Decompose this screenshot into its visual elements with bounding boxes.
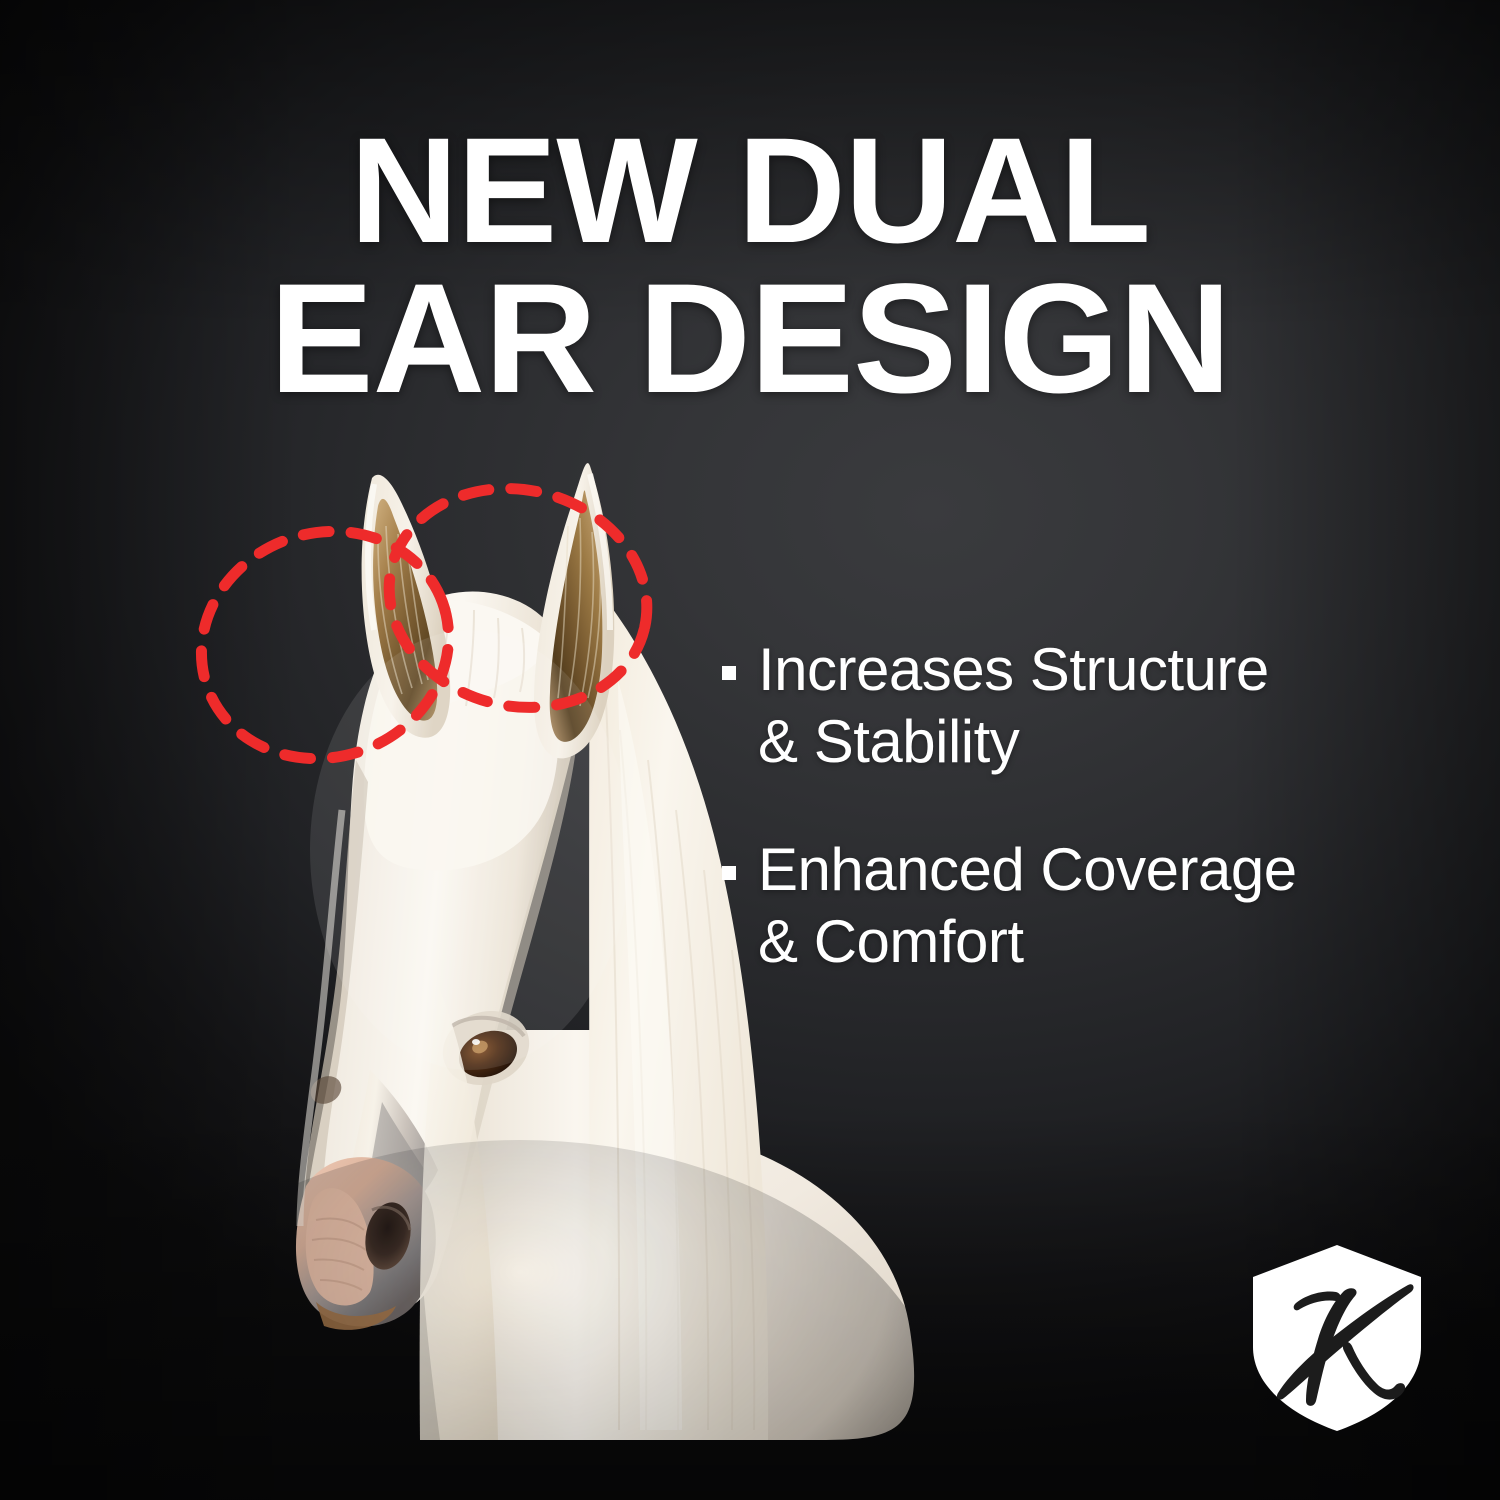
bullet-text-0: Increases Structure & Stability [758, 634, 1269, 778]
bullet-0-line-1: Increases Structure [758, 636, 1269, 703]
square-bullet-icon [722, 666, 736, 680]
bullet-1-line-2: & Comfort [758, 908, 1024, 975]
shield-icon [1248, 1243, 1426, 1433]
brand-shield-logo [1248, 1243, 1426, 1433]
product-marketing-banner: NEW DUAL EAR DESIGN [0, 0, 1500, 1500]
square-bullet-icon [722, 866, 736, 880]
headline-line-1: NEW DUAL [0, 118, 1500, 264]
list-item: Enhanced Coverage & Comfort [722, 834, 1422, 978]
headline-line-2: EAR DESIGN [0, 264, 1500, 415]
feature-bullet-list: Increases Structure & Stability Enhanced… [722, 634, 1422, 1034]
bullet-1-line-1: Enhanced Coverage [758, 836, 1297, 903]
bullet-text-1: Enhanced Coverage & Comfort [758, 834, 1297, 978]
headline: NEW DUAL EAR DESIGN [0, 118, 1500, 415]
list-item: Increases Structure & Stability [722, 634, 1422, 778]
bullet-0-line-2: & Stability [758, 708, 1019, 775]
